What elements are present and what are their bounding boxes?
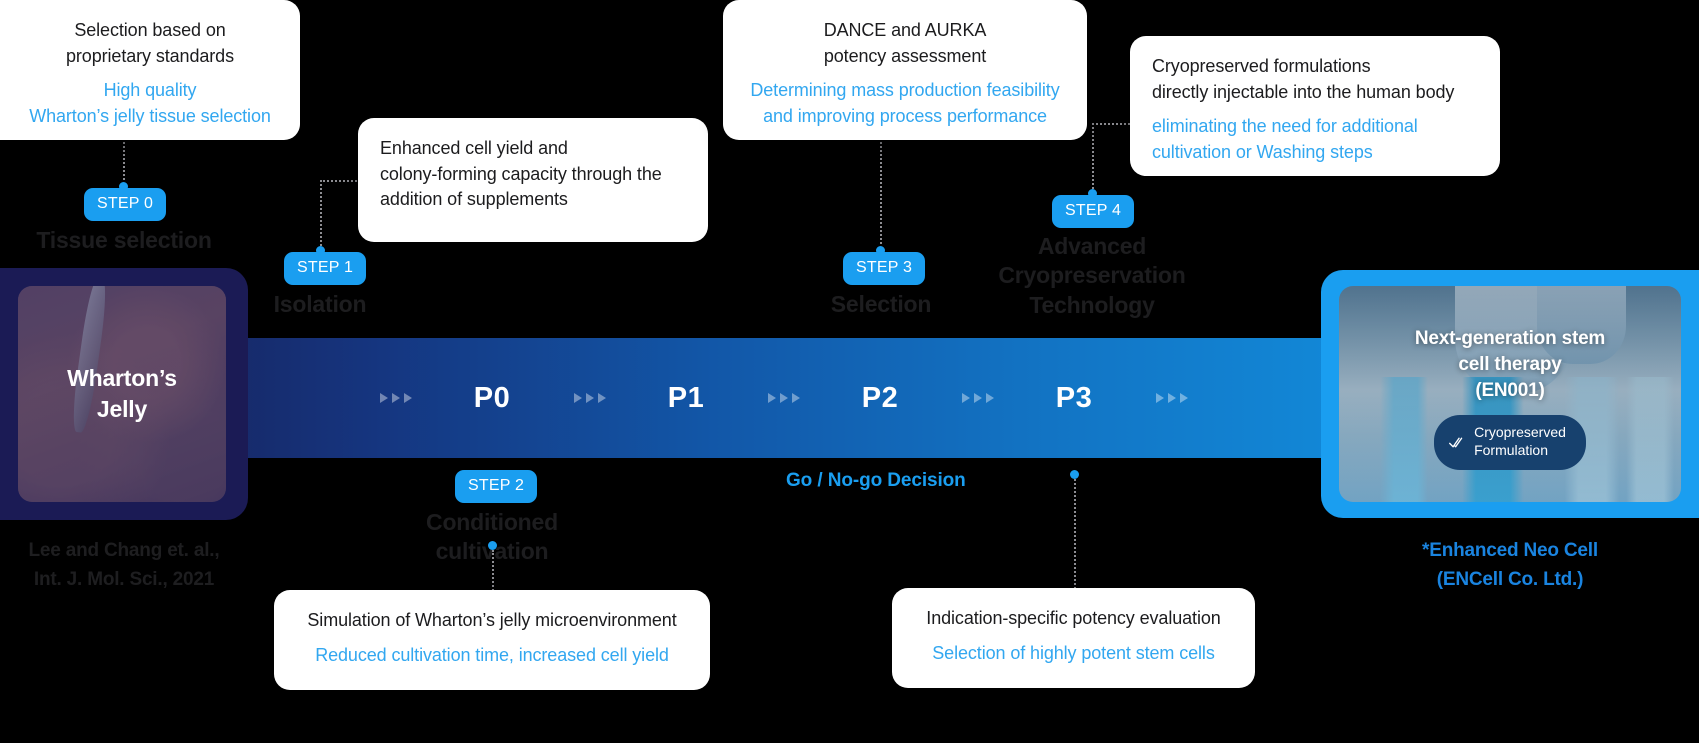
wharton-jelly-tile: Wharton’s Jelly — [0, 268, 248, 520]
step-2-card: Simulation of Wharton’s jelly microenvir… — [274, 590, 710, 690]
double-check-icon — [1448, 434, 1465, 451]
bottom-right-card-subtitle: Selection of highly potent stem cells — [914, 641, 1233, 667]
step-4-name: Advanced Cryopreservation Technology — [982, 232, 1202, 320]
timeline-passage-p2: P2 — [840, 338, 920, 458]
timeline-arrows-0 — [372, 338, 420, 458]
step-3-card-subtitle: Determining mass production feasibility … — [745, 78, 1065, 129]
step-0-name: Tissue selection — [24, 226, 224, 255]
step-4-connector-vline — [1092, 123, 1094, 189]
timeline-arrows-3 — [954, 338, 1002, 458]
step-4-badge[interactable]: STEP 4 — [1052, 195, 1134, 228]
step-2-card-subtitle: Reduced cultivation time, increased cell… — [296, 643, 688, 669]
wharton-jelly-caption: Lee and Chang et. al., Int. J. Mol. Sci.… — [0, 536, 248, 595]
bottom-right-card: Indication-specific potency evaluation S… — [892, 588, 1255, 688]
encell-title: Next-generation stem cell therapy (EN001… — [1415, 326, 1605, 403]
encell-photo: Next-generation stem cell therapy (EN001… — [1339, 286, 1681, 502]
timeline-passage-p0: P0 — [452, 338, 532, 458]
bottom-right-connector-line — [1074, 479, 1076, 589]
step-2-connector-line — [492, 550, 494, 594]
step-4-card-subtitle: eliminating the need for additional cult… — [1152, 114, 1478, 165]
step-1-card-title: Enhanced cell yield and colony-forming c… — [380, 136, 686, 213]
timeline-passage-p1: P1 — [646, 338, 726, 458]
step-0-card-subtitle: High quality Wharton’s jelly tissue sele… — [22, 78, 278, 129]
step-2-connector-dot — [488, 541, 497, 550]
step-2-card-title: Simulation of Wharton’s jelly microenvir… — [296, 608, 688, 634]
wharton-jelly-photo: Wharton’s Jelly — [18, 286, 226, 502]
step-3-card-title: DANCE and AURKA potency assessment — [745, 18, 1065, 69]
step-3-badge[interactable]: STEP 3 — [843, 252, 925, 285]
passage-label: P0 — [474, 382, 510, 415]
step-1-connector-hline — [320, 180, 360, 182]
bottom-right-connector-dot — [1070, 470, 1079, 479]
cryopreserved-formulation-pill: Cryopreserved Formulation — [1434, 415, 1586, 469]
timeline-arrows-2 — [760, 338, 808, 458]
encell-tile: Next-generation stem cell therapy (EN001… — [1321, 270, 1699, 518]
step-1-badge[interactable]: STEP 1 — [284, 252, 366, 285]
step-3-card: DANCE and AURKA potency assessment Deter… — [723, 0, 1087, 140]
encell-caption: *Enhanced Neo Cell (ENCell Co. Ltd.) — [1321, 536, 1699, 595]
passage-label: P3 — [1056, 382, 1092, 415]
step-0-card-title: Selection based on proprietary standards — [22, 18, 278, 69]
step-1-connector-vline — [320, 180, 322, 246]
step-1-name: Isolation — [220, 290, 420, 319]
passage-label: P2 — [862, 382, 898, 415]
step-1-card: Enhanced cell yield and colony-forming c… — [358, 118, 708, 242]
cryopreserved-formulation-label: Cryopreserved Formulation — [1474, 424, 1566, 459]
step-4-card-title: Cryopreserved formulations directly inje… — [1152, 54, 1478, 105]
step-3-connector-line — [880, 142, 882, 244]
timeline-arrows-1 — [566, 338, 614, 458]
step-3-name: Selection — [781, 290, 981, 319]
step-4-card: Cryopreserved formulations directly inje… — [1130, 36, 1500, 176]
timeline-arrows-4 — [1148, 338, 1196, 458]
bottom-right-card-title: Indication-specific potency evaluation — [914, 606, 1233, 632]
step-0-card: Selection based on proprietary standards… — [0, 0, 300, 140]
go-no-go-label: Go / No-go Decision — [786, 470, 966, 492]
process-diagram: P0 P1 P2 P3 Selection based on proprieta… — [0, 0, 1699, 743]
step-4-connector-hline — [1092, 123, 1134, 125]
step-0-badge[interactable]: STEP 0 — [84, 188, 166, 221]
wharton-jelly-label: Wharton’s Jelly — [67, 363, 177, 425]
step-0-connector-line — [123, 142, 125, 180]
passage-label: P1 — [668, 382, 704, 415]
timeline-passage-p3: P3 — [1034, 338, 1114, 458]
step-2-badge[interactable]: STEP 2 — [455, 470, 537, 503]
